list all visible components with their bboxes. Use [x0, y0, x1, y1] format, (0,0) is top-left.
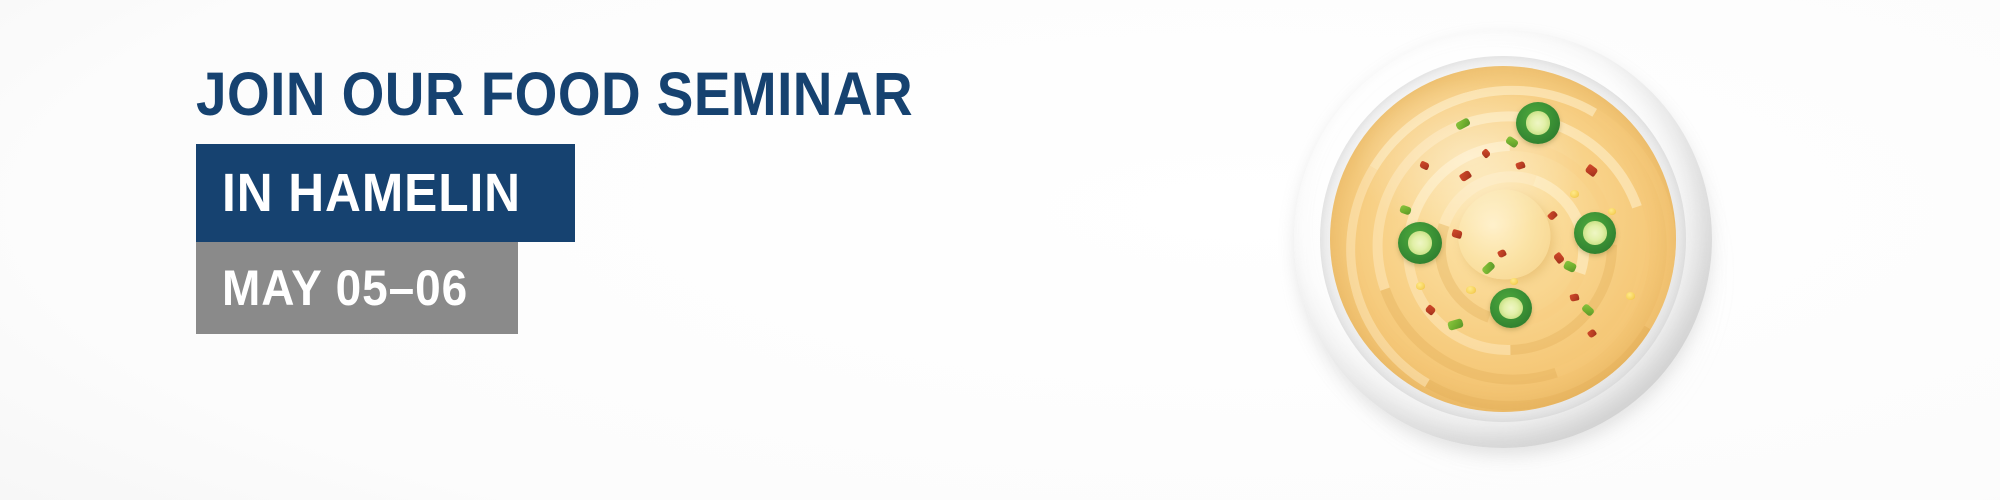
chili-flake: [1587, 328, 1598, 338]
chili-flake: [1584, 164, 1598, 178]
chili-flake: [1569, 293, 1579, 302]
scallion-bit: [1581, 303, 1595, 317]
scallion-bit: [1563, 260, 1578, 273]
corn-kernel: [1570, 190, 1579, 198]
banner-tag-stack: IN HAMELIN MAY 05–06: [196, 144, 976, 334]
chili-flake: [1451, 229, 1463, 239]
corn-kernel: [1626, 292, 1635, 300]
corn-kernel: [1466, 286, 1476, 294]
dates-tag-label: MAY 05–06: [222, 262, 468, 314]
jalapeno-slice: [1574, 212, 1616, 254]
chili-flake: [1424, 304, 1436, 316]
banner-text-block: JOIN OUR FOOD SEMINAR IN HAMELIN MAY 05–…: [196, 62, 976, 334]
jalapeno-slice: [1490, 288, 1532, 328]
cheese-dip-photo: [1268, 10, 1746, 488]
corn-kernel: [1510, 278, 1518, 285]
jalapeno-slice: [1398, 222, 1442, 264]
jalapeno-slice: [1516, 102, 1560, 144]
scallion-bit: [1447, 318, 1464, 331]
promo-banner: JOIN OUR FOOD SEMINAR IN HAMELIN MAY 05–…: [0, 0, 2000, 500]
corn-kernel: [1416, 282, 1425, 290]
banner-headline: JOIN OUR FOOD SEMINAR: [196, 62, 898, 126]
cheese-dip-surface: [1330, 66, 1676, 412]
corn-kernel: [1608, 208, 1616, 215]
dates-tag: MAY 05–06: [196, 242, 518, 334]
location-tag: IN HAMELIN: [196, 144, 575, 242]
chili-flake: [1553, 252, 1565, 265]
location-tag-label: IN HAMELIN: [222, 165, 521, 221]
